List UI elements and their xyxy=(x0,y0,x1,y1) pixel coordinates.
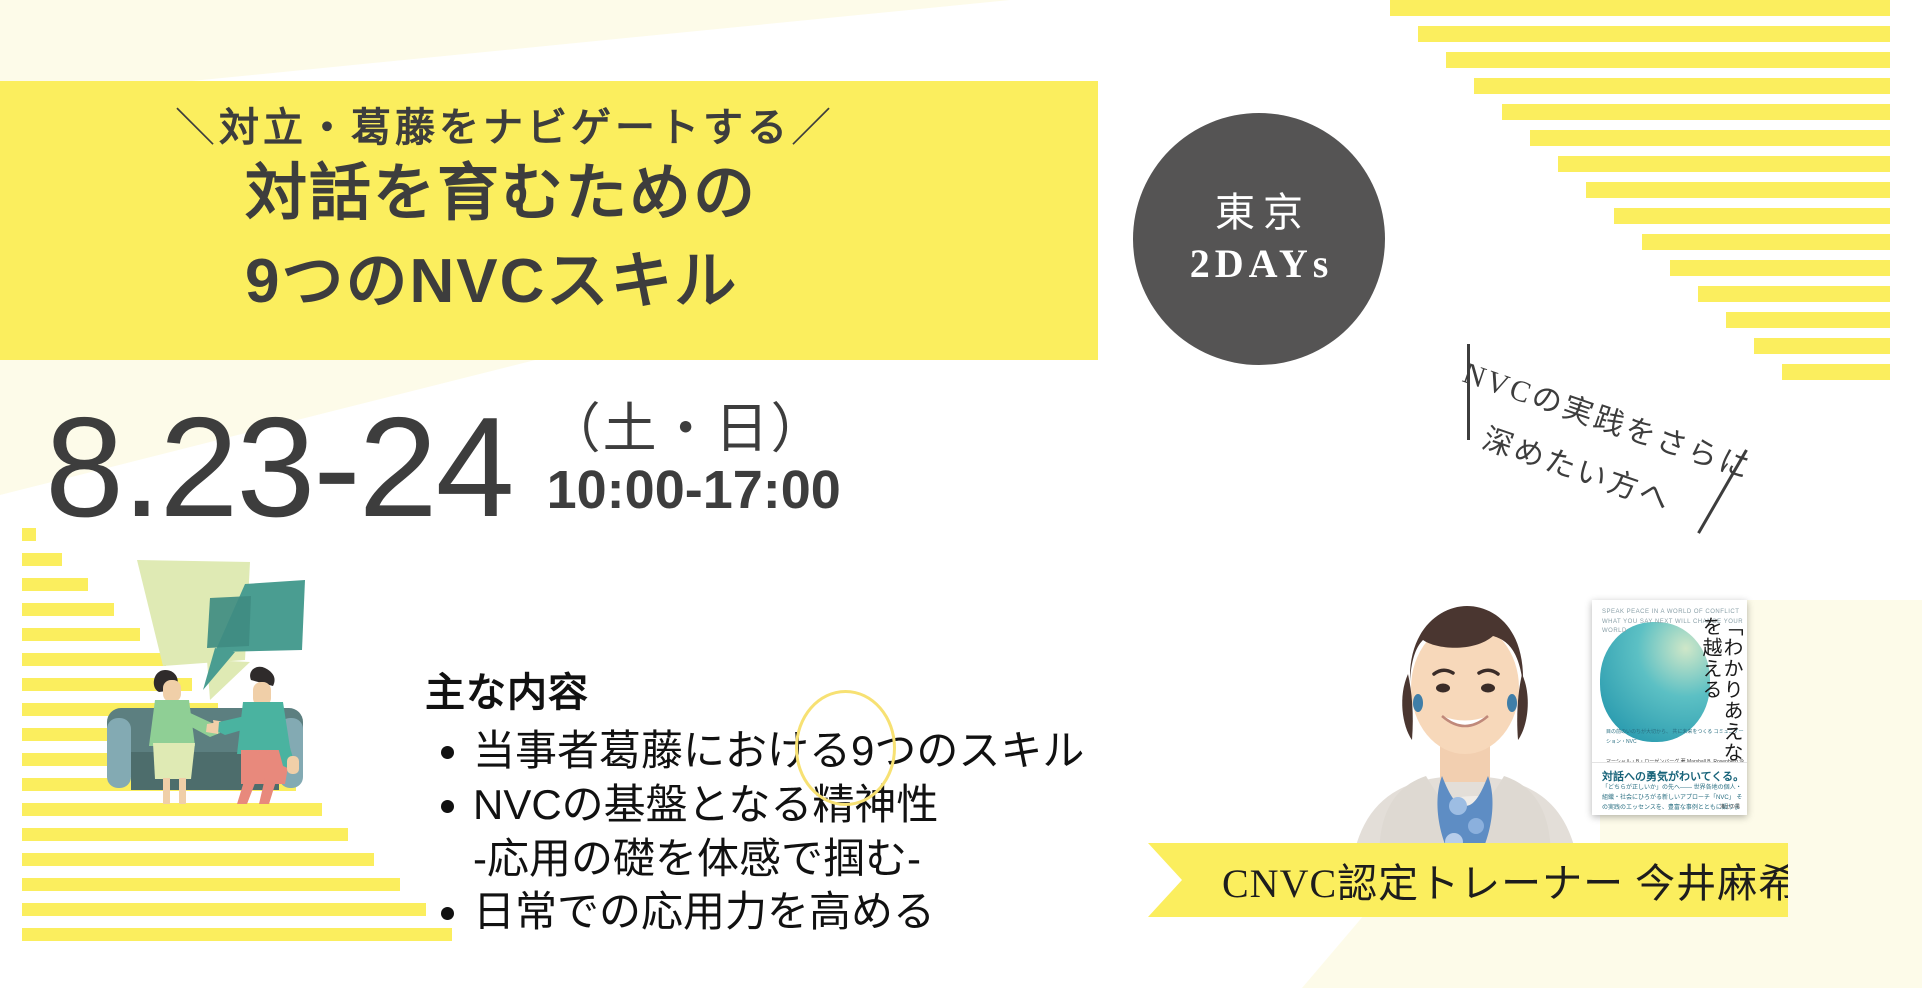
title-line-2: 9つのNVCスキル xyxy=(245,238,757,326)
stripe-line xyxy=(1614,208,1890,224)
kicker-label: 対立・葛藤をナビゲートする xyxy=(219,106,791,150)
list-item-text: 日常での応用力を高める xyxy=(473,888,935,935)
poster-canvas: ＼対立・葛藤をナビゲートする／ 対話を育むための 9つのNVCスキル 東京 2D… xyxy=(0,0,1922,988)
trainer-name-ribbon: CNVC認定トレーナー 今井麻希子 xyxy=(1148,843,1788,917)
book-band-title: 対話への勇気がわいてくる。 xyxy=(1602,768,1744,784)
stripe-line xyxy=(1474,78,1890,94)
stripe-line xyxy=(1558,156,1890,172)
conversation-illustration xyxy=(55,540,355,960)
slash-left-icon: ＼ xyxy=(175,95,219,153)
stripe-line xyxy=(1698,286,1890,302)
stripe-line xyxy=(1418,26,1890,42)
trainer-name: CNVC認定トレーナー 今井麻希子 xyxy=(1148,851,1840,909)
slash-right-icon: ／ xyxy=(791,95,835,153)
book-band-subtitle: 「どちらが正しいか」の先へ―― 世界各地の個人・組織・社会にひろがる新しいアプロ… xyxy=(1602,783,1747,815)
list-item: 当事者葛藤における9つのスキル xyxy=(473,724,1084,778)
stripe-line xyxy=(1670,260,1890,276)
title-line-1: 対話を育むための xyxy=(245,150,757,238)
stripe-line xyxy=(1530,130,1890,146)
page-title: 対話を育むための 9つのNVCスキル xyxy=(245,150,757,326)
stripe-line xyxy=(22,528,36,541)
list-item-text: 当事者葛藤における9つのスキル xyxy=(473,727,1084,774)
badge-location: 東京 xyxy=(1207,188,1311,238)
stripe-line xyxy=(1502,104,1890,120)
stripe-line xyxy=(1726,312,1890,328)
highlight-circle-accent xyxy=(795,690,896,806)
badge-days: 2DAYs xyxy=(1185,238,1334,290)
stripe-line xyxy=(1642,234,1890,250)
list-item: NVCの基盤となる精神性 -応用の礎を体感で掴む- xyxy=(473,778,1084,886)
content-section: 主な内容 当事者葛藤における9つのスキル NVCの基盤となる精神性 -応用の礎を… xyxy=(425,660,1084,939)
angled-note: NVCの実践をさらに 深めたい方へ xyxy=(1455,330,1815,530)
list-item: 日常での応用力を高める xyxy=(473,885,1084,939)
book-blob-graphic xyxy=(1600,622,1710,742)
stripe-line xyxy=(1586,182,1890,198)
kicker-text: ＼対立・葛藤をナビゲートする／ xyxy=(175,95,835,153)
stripe-line xyxy=(1446,52,1890,68)
content-list: 当事者葛藤における9つのスキル NVCの基盤となる精神性 -応用の礎を体感で掴む… xyxy=(425,724,1084,939)
trainer-photo xyxy=(1330,570,1600,880)
book-publisher: 海士の風 xyxy=(1720,803,1740,810)
book-cover: SPEAK PEACE IN A WORLD OF CONFLICT WHAT … xyxy=(1592,600,1747,815)
stripe-line xyxy=(1390,0,1890,16)
event-date: 8.23-24 （土・日） 10:00-17:00 xyxy=(45,400,841,533)
date-main: 8.23-24 xyxy=(45,403,513,534)
content-heading: 主な内容 xyxy=(425,660,1084,718)
date-day-of-week: （土・日） xyxy=(547,400,841,459)
location-badge: 東京 2DAYs xyxy=(1133,113,1385,365)
date-time: 10:00-17:00 xyxy=(547,459,841,521)
book-obi-band: 対話への勇気がわいてくる。 「どちらが正しいか」の先へ―― 世界各地の個人・組織… xyxy=(1592,762,1747,815)
list-item-subtext: -応用の礎を体感で掴む- xyxy=(473,832,1084,886)
